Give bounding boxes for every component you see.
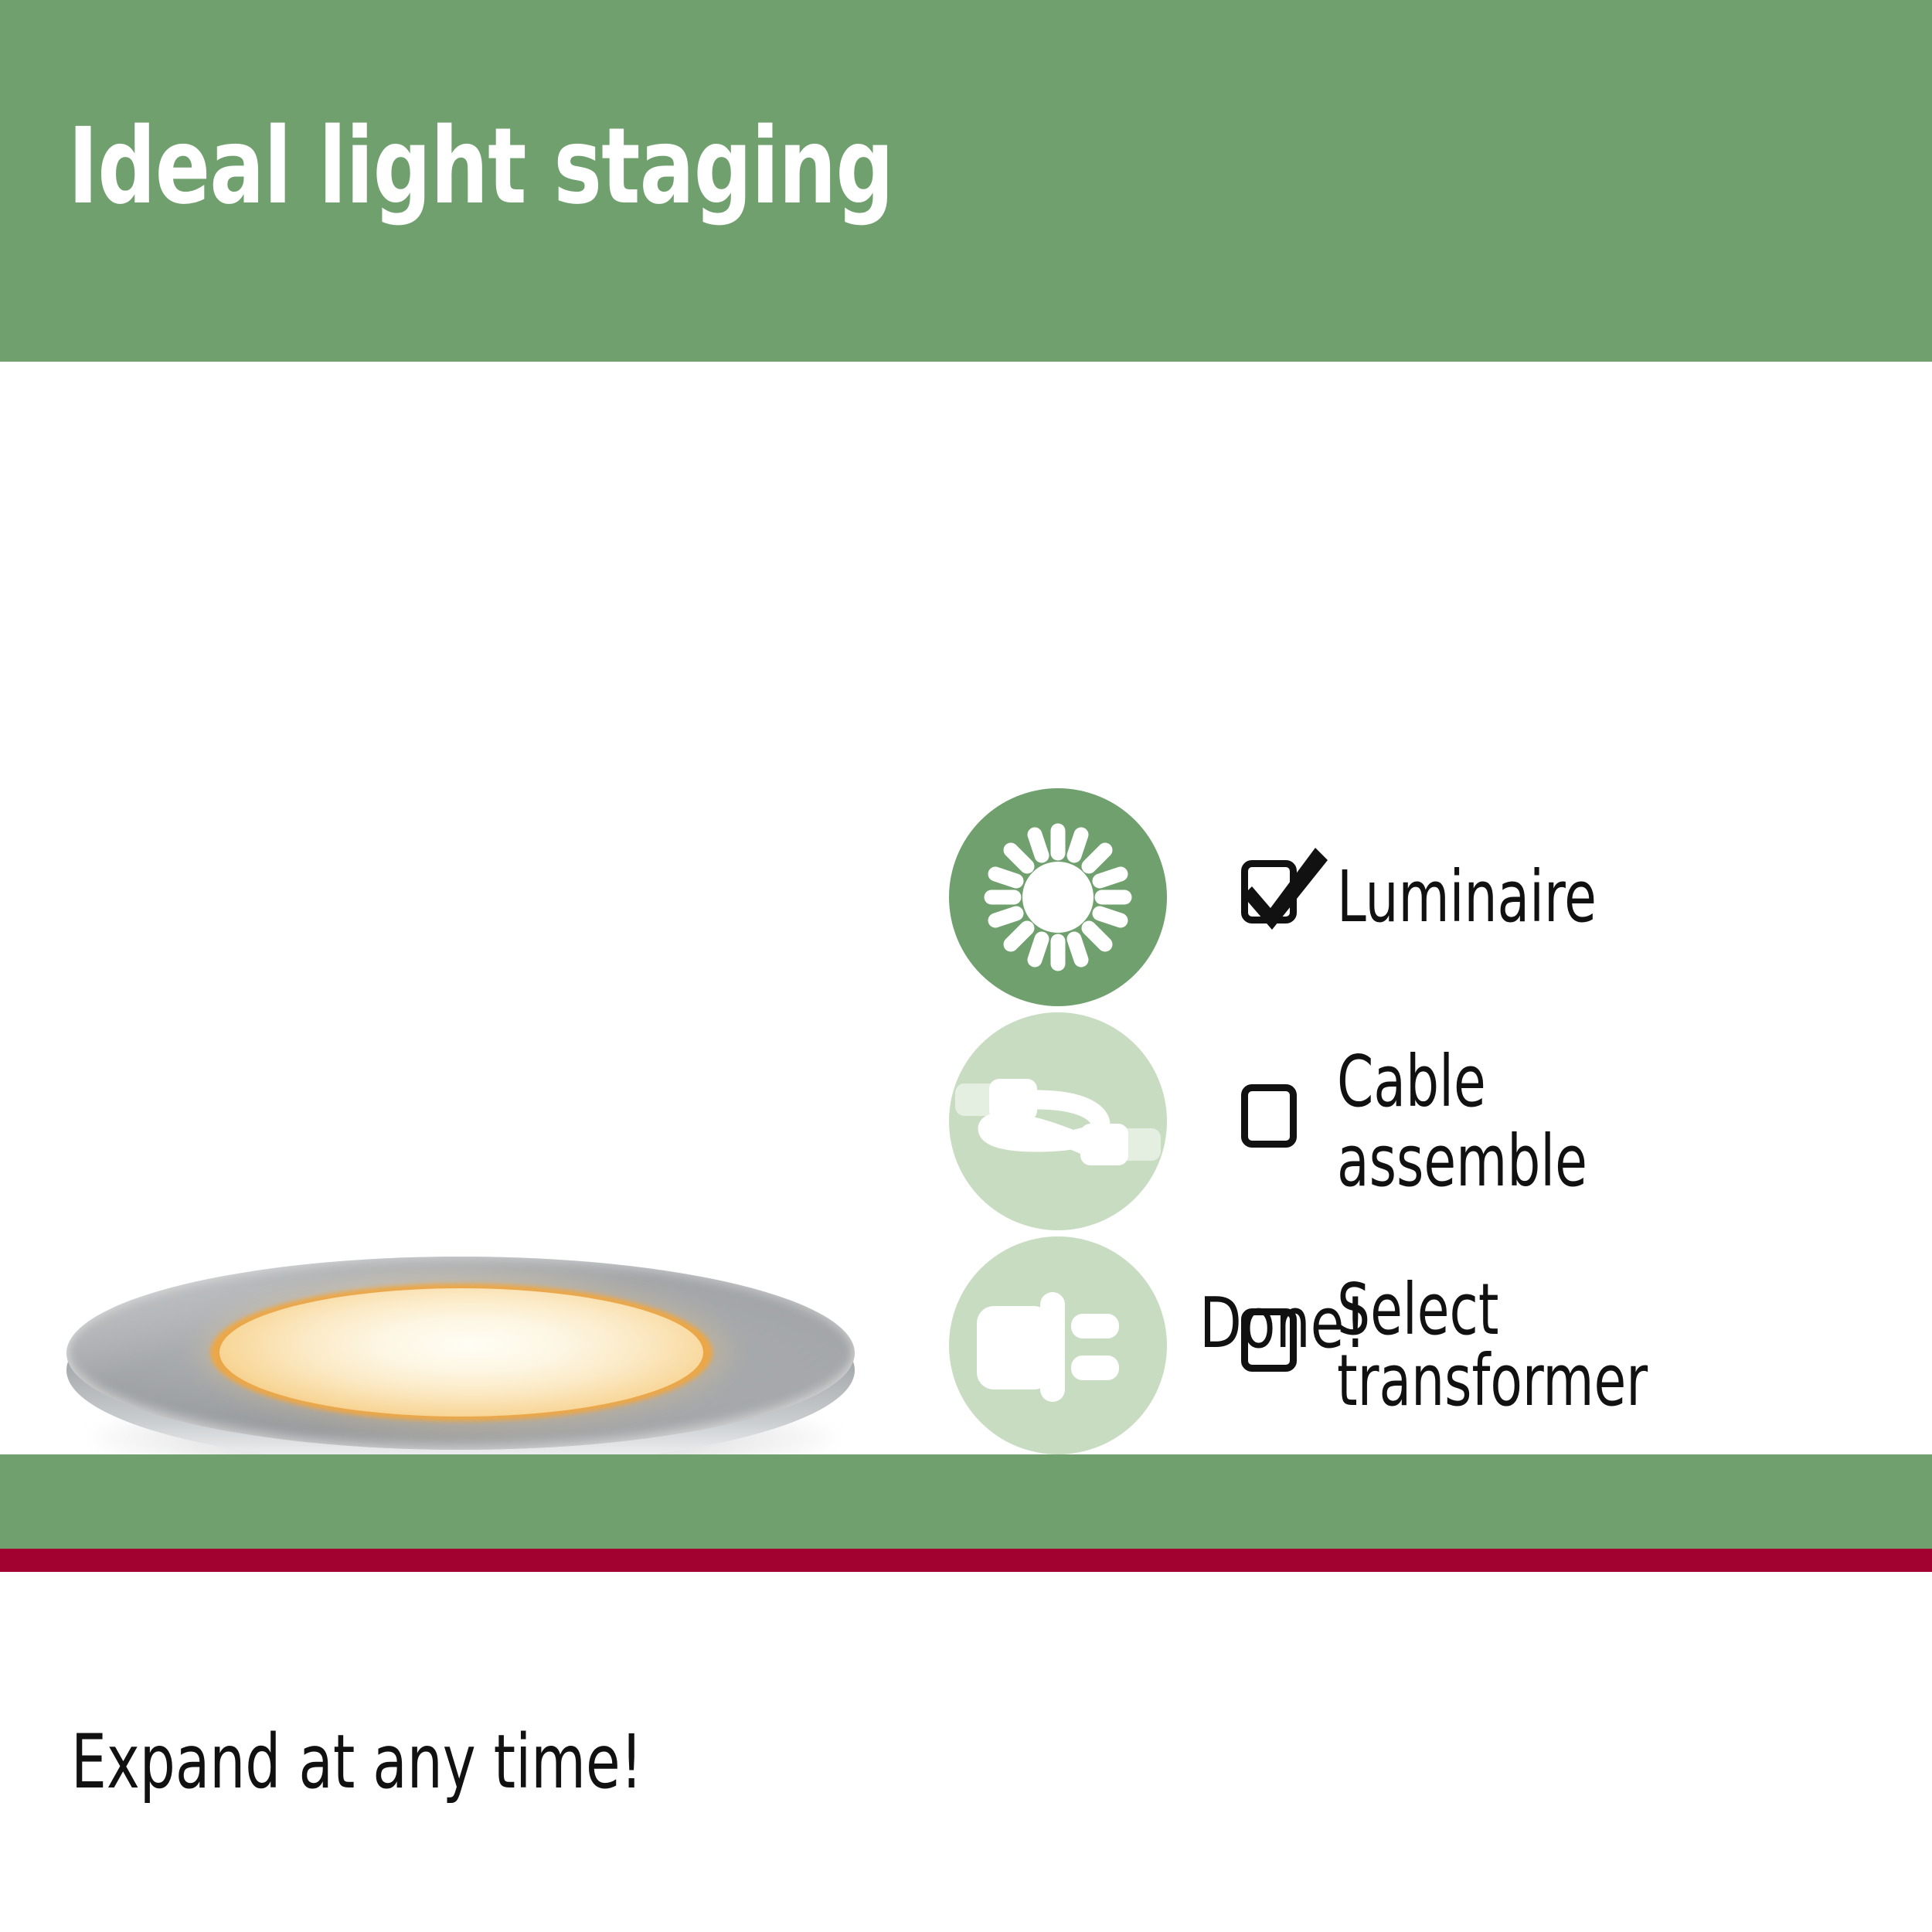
page-title: Ideal light staging [68, 114, 893, 219]
footer-green-band [0, 1454, 1932, 1549]
plug-icon [949, 1236, 1167, 1454]
plug-icon-circle [949, 1236, 1167, 1454]
checklist-label-cable-assemble: Cable assemble [1337, 1042, 1587, 1201]
checklist-item-luminaire[interactable]: Luminaire [949, 785, 1907, 1009]
checkmark-icon [1238, 842, 1331, 934]
header-band: Ideal light staging [0, 0, 1932, 362]
main-content: Luminaire Cable asse [0, 362, 1932, 1454]
sun-icon [949, 788, 1167, 1006]
footer-text: Expand at any time! [71, 1725, 643, 1799]
product-diffuser-lens [219, 1288, 703, 1417]
checkbox-cable-assemble[interactable] [1241, 1084, 1308, 1158]
done-text: Done! [1199, 1289, 1366, 1359]
checklist-label-select-transformer: Select transformer [1337, 1274, 1804, 1417]
checklist-item-select-transformer[interactable]: Select transformer [949, 1233, 1907, 1458]
cable-icon-circle [949, 1012, 1167, 1230]
checklist: Luminaire Cable asse [949, 785, 1907, 1458]
sun-icon-circle [949, 788, 1167, 1006]
checkbox-box [1241, 1084, 1297, 1148]
checklist-item-cable-right: Cable assemble [1241, 1042, 1642, 1201]
footer-crimson-band [0, 1549, 1932, 1572]
checklist-item-cable-assemble[interactable]: Cable assemble [949, 1009, 1907, 1233]
checkbox-luminaire[interactable] [1241, 860, 1308, 934]
cable-icon [949, 1012, 1167, 1230]
checklist-label-luminaire: Luminaire [1337, 862, 1597, 933]
checklist-item-luminaire-right: Luminaire [1241, 860, 1654, 934]
